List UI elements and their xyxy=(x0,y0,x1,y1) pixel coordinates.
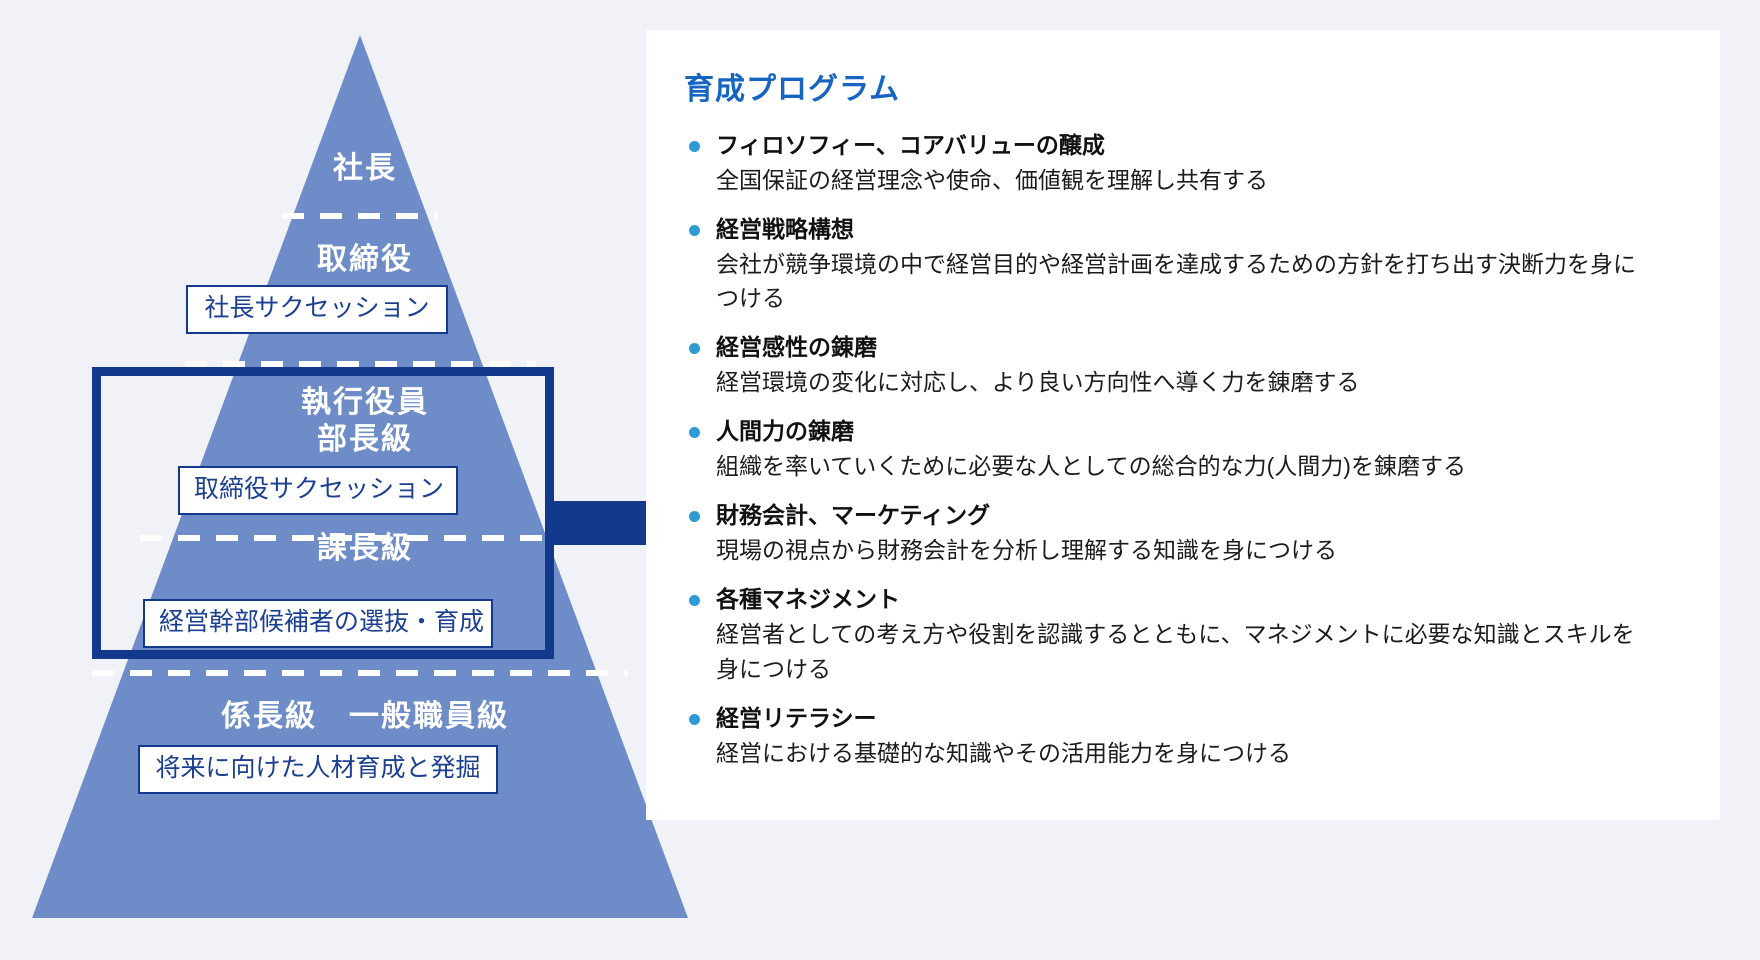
program-item-body: 人間力の錬磨 組織を率いていくために必要な人としての総合的な力(人間力)を錬磨す… xyxy=(716,416,1680,483)
program-item: 経営感性の錬磨 経営環境の変化に対応し、より良い方向性へ導く力を錬磨する xyxy=(684,332,1680,399)
bullet-icon xyxy=(689,714,700,725)
program-item-title: 経営戦略構想 xyxy=(716,214,1680,245)
program-item: 人間力の錬磨 組織を率いていくために必要な人としての総合的な力(人間力)を錬磨す… xyxy=(684,416,1680,483)
program-item-title: 人間力の錬磨 xyxy=(716,416,1680,447)
panel-title: 育成プログラム xyxy=(684,64,1680,108)
program-item-body: 経営戦略構想 会社が競争環境の中で経営目的や経営計画を達成するための方針を打ち出… xyxy=(716,214,1680,315)
program-item-title: 財務会計、マーケティング xyxy=(716,500,1680,531)
program-item-description: 会社が競争環境の中で経営目的や経営計画を達成するための方針を打ち出す決断力を身に… xyxy=(716,247,1646,315)
program-item-description: 組織を率いていくために必要な人としての総合的な力(人間力)を錬磨する xyxy=(716,449,1646,483)
program-item-title: フィロソフィー、コアバリューの醸成 xyxy=(716,130,1680,161)
tier-chip-future-talent-development: 将来に向けた人材育成と発掘 xyxy=(138,745,498,794)
program-item-body: 財務会計、マーケティング 現場の視点から財務会計を分析し理解する知識を身につける xyxy=(716,500,1680,567)
bullet-icon xyxy=(689,511,700,522)
program-item-title: 経営リテラシー xyxy=(716,703,1680,734)
program-item: 経営戦略構想 会社が競争環境の中で経営目的や経営計画を達成するための方針を打ち出… xyxy=(684,214,1680,315)
bullet-icon xyxy=(689,225,700,236)
program-item-title: 各種マネジメント xyxy=(716,584,1680,615)
program-item-description: 全国保証の経営理念や使命、価値観を理解し共有する xyxy=(716,163,1646,197)
bullet-icon xyxy=(689,427,700,438)
bullet-icon xyxy=(689,595,700,606)
program-item-description: 現場の視点から財務会計を分析し理解する知識を身につける xyxy=(716,533,1646,567)
program-item: 財務会計、マーケティング 現場の視点から財務会計を分析し理解する知識を身につける xyxy=(684,500,1680,567)
program-item-body: 経営リテラシー 経営における基礎的な知識やその活用能力を身につける xyxy=(716,703,1680,770)
program-item-description: 経営環境の変化に対応し、より良い方向性へ導く力を錬磨する xyxy=(716,365,1646,399)
program-item-body: 各種マネジメント 経営者としての考え方や役割を認識するとともに、マネジメントに必… xyxy=(716,584,1680,685)
program-item: フィロソフィー、コアバリューの醸成 全国保証の経営理念や使命、価値観を理解し共有… xyxy=(684,130,1680,197)
program-item-body: フィロソフィー、コアバリューの醸成 全国保証の経営理念や使命、価値観を理解し共有… xyxy=(716,130,1680,197)
program-item: 経営リテラシー 経営における基礎的な知識やその活用能力を身につける xyxy=(684,703,1680,770)
pyramid-diagram: 社長 取締役 社長サクセッション 執行役員 部長級 取締役サクセッション 課長級… xyxy=(0,0,730,960)
program-item-body: 経営感性の錬磨 経営環境の変化に対応し、より良い方向性へ導く力を錬磨する xyxy=(716,332,1680,399)
program-item: 各種マネジメント 経営者としての考え方や役割を認識するとともに、マネジメントに必… xyxy=(684,584,1680,685)
tier-chip-shacho-succession: 社長サクセッション xyxy=(186,285,448,334)
program-item-description: 経営者としての考え方や役割を認識するとともに、マネジメントに必要な知識とスキルを… xyxy=(716,617,1646,685)
program-item-description: 経営における基礎的な知識やその活用能力を身につける xyxy=(716,736,1646,770)
target-tier-highlight-box xyxy=(92,367,554,659)
bullet-icon xyxy=(689,343,700,354)
bullet-icon xyxy=(689,141,700,152)
program-item-title: 経営感性の錬磨 xyxy=(716,332,1680,363)
training-program-panel: 育成プログラム フィロソフィー、コアバリューの醸成 全国保証の経営理念や使命、価… xyxy=(646,30,1720,820)
